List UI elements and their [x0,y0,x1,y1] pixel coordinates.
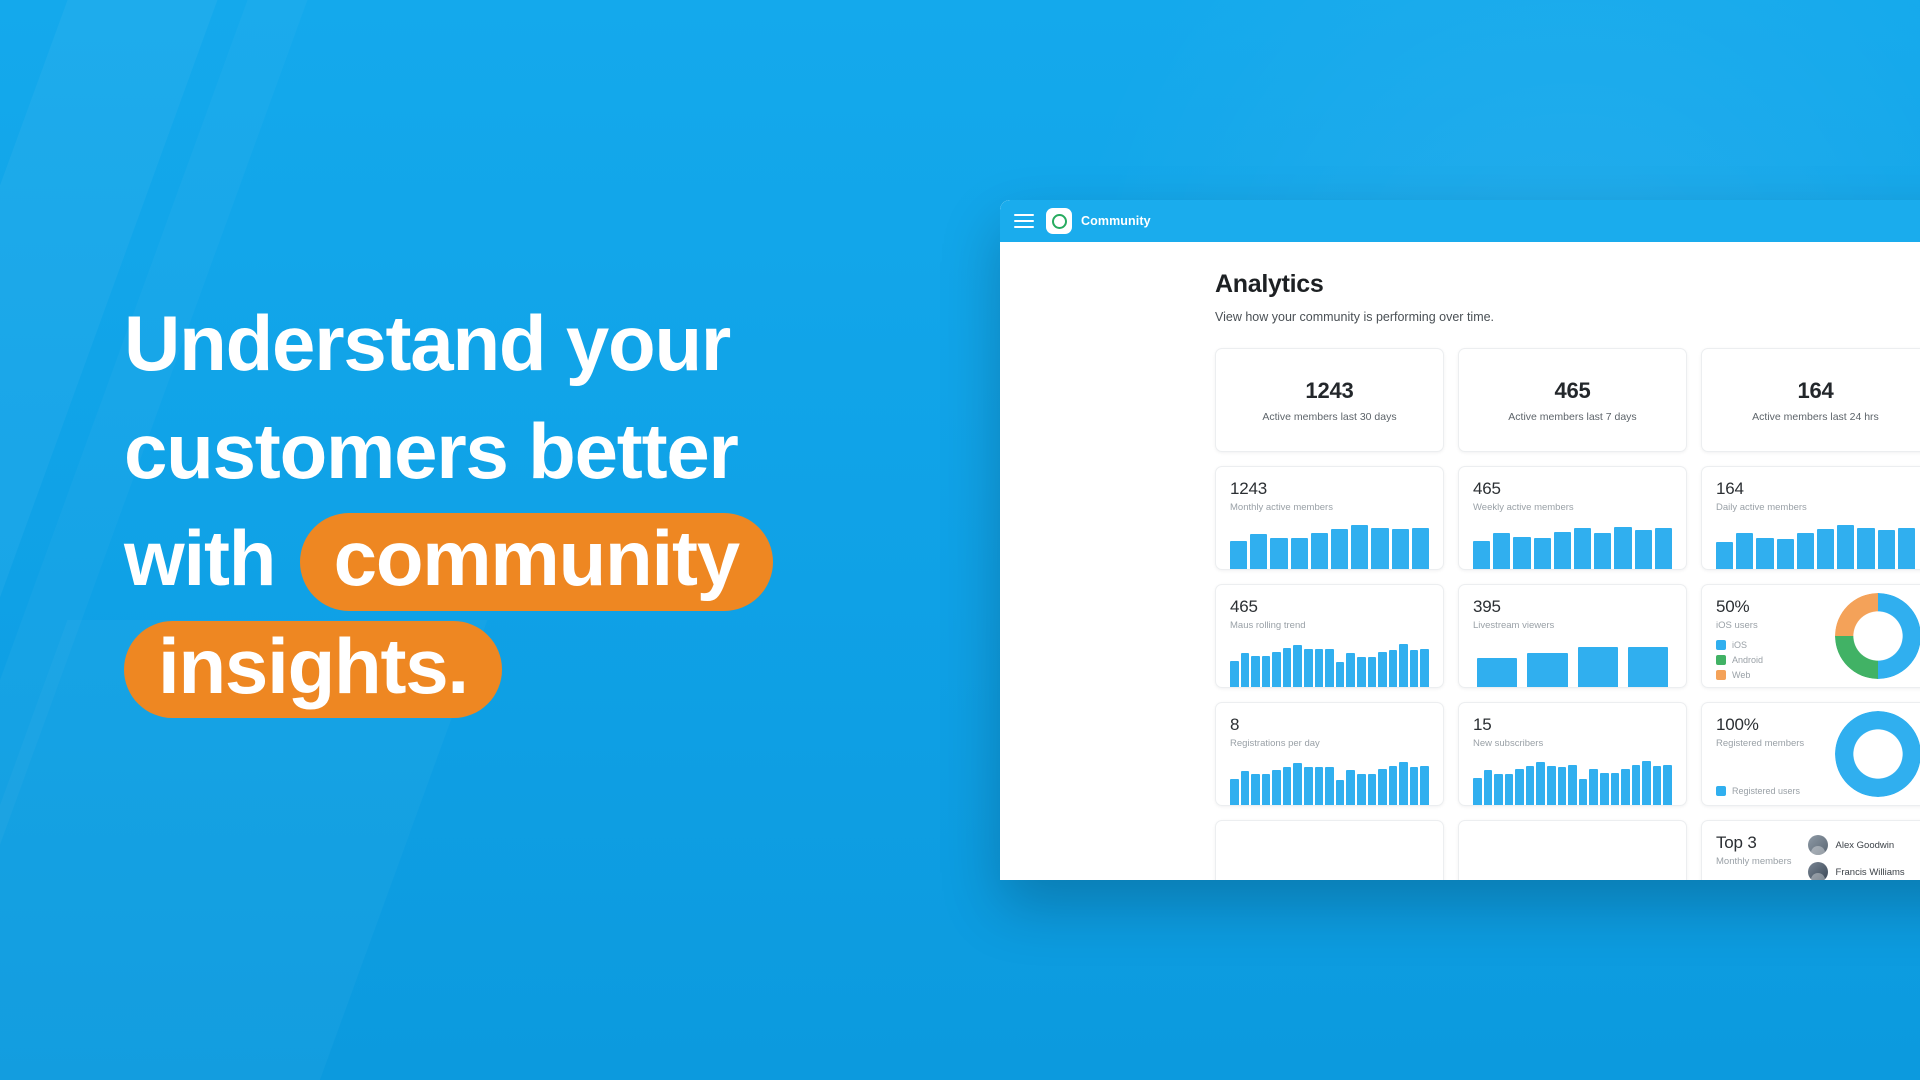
legend-label: Web [1732,670,1750,680]
bar [1371,528,1388,569]
bar [1410,767,1419,805]
legend-row: iOS [1716,640,1819,650]
bar [1272,652,1281,687]
headline-line-4: insights. [124,613,944,721]
bar [1513,537,1530,569]
bar [1642,761,1651,805]
list-item[interactable]: Alex Goodwin [1808,835,1915,855]
card-value: 465 [1473,479,1672,499]
headline-pill-community: community [300,513,773,611]
top-members-card[interactable]: Top 3 Monthly members Alex Goodwin Franc… [1701,820,1920,880]
bar [1663,765,1672,805]
chart-card-weekly-active-members[interactable]: 465 Weekly active members [1458,466,1687,570]
bar-chart [1477,641,1668,687]
bar [1527,653,1567,687]
bar [1817,529,1834,569]
bar [1230,779,1239,805]
bar [1534,538,1551,569]
app-main-content: Analytics View how your community is per… [1215,242,1920,880]
bar [1837,525,1854,569]
bar [1547,766,1556,805]
bar-chart [1473,521,1672,569]
bar [1389,766,1398,805]
bar [1283,767,1292,805]
chart-card-daily-active-members[interactable]: 164 Daily active members [1701,466,1920,570]
hero-headline: Understand your customers better with co… [124,290,944,721]
kpi-card-bottom[interactable]: 42 [1458,820,1687,880]
bar [1315,649,1324,687]
bar [1568,765,1577,805]
bar [1716,542,1733,569]
donut-chart [1835,711,1920,797]
bar [1291,538,1308,569]
bar [1251,774,1260,805]
avatar [1808,862,1828,880]
bar [1797,533,1814,569]
bar [1635,530,1652,569]
bar [1505,774,1514,805]
brand-name: Community [1081,214,1151,228]
legend-swatch [1716,670,1726,680]
bar [1554,532,1571,569]
headline-line-2: customers better [124,398,944,506]
member-name: Alex Goodwin [1836,840,1895,851]
bar-chart [1230,757,1429,805]
legend-label: Android [1732,655,1763,665]
card-value: 15 [1473,715,1672,735]
card-value: 164 [1716,479,1915,499]
card-label: Livestream viewers [1473,620,1672,631]
bar [1389,650,1398,687]
donut-chart [1835,593,1920,679]
donut-card-ios-users[interactable]: 50% iOS users iOSAndroidWeb [1701,584,1920,688]
card-label: Monthly active members [1230,502,1429,513]
bar [1283,648,1292,687]
app-body: Analytics View how your community is per… [1000,242,1920,880]
bar [1230,661,1239,687]
bar [1857,528,1874,569]
chart-card-new-subscribers[interactable]: 15 New subscribers [1458,702,1687,806]
legend-swatch [1716,655,1726,665]
legend-swatch [1716,786,1726,796]
bar [1293,645,1302,687]
legend-swatch [1716,640,1726,650]
bar-chart [1473,757,1672,805]
kpi-label: Active members last 30 days [1262,411,1396,423]
bar [1484,770,1493,805]
donut-card-registered-members[interactable]: 100% Registered members Registered users [1701,702,1920,806]
bar [1336,780,1345,805]
kpi-card[interactable]: 164 Active members last 24 hrs [1701,348,1920,452]
headline-line-3: with community [124,505,944,613]
card-value: 395 [1473,597,1672,617]
donut-legend: Registered users [1716,786,1800,796]
chart-card-monthly-active-members[interactable]: 1243 Monthly active members [1215,466,1444,570]
kpi-value: 1243 [1305,378,1353,404]
chart-card-livestream-viewers[interactable]: 395 Livestream viewers [1458,584,1687,688]
bar [1574,528,1591,569]
card-value: Top 3 [1716,833,1808,853]
app-sidebar [1000,242,1215,880]
card-label: Monthly members [1716,856,1808,867]
bar [1756,538,1773,569]
bar [1898,528,1915,569]
card-label: iOS users [1716,620,1819,631]
card-label: Daily active members [1716,502,1915,513]
bar [1250,534,1267,569]
card-label: Registered members [1716,738,1819,749]
card-value: 8 [1230,715,1429,735]
bar [1241,653,1250,687]
headline-line-3-prefix: with [124,514,275,602]
bar [1368,774,1377,805]
card-value: 100% [1716,715,1819,735]
bar [1473,541,1490,569]
bar [1578,647,1618,687]
bar [1368,657,1377,687]
legend-row: Web [1716,670,1819,680]
card-label: Registrations per day [1230,738,1429,749]
brand[interactable]: Community [1046,208,1151,234]
bar [1493,533,1510,569]
bar [1412,528,1429,569]
kpi-card[interactable]: 1243 Active members last 30 days [1215,348,1444,452]
bar [1494,774,1503,805]
member-name: Francis Williams [1836,867,1905,878]
bar [1621,769,1630,805]
app-window-mockup: Community Analytics View how your commun… [1000,200,1920,880]
kpi-card-bottom[interactable]: 1264 [1215,820,1444,880]
bar [1331,529,1348,569]
bar [1378,769,1387,805]
bar [1878,530,1895,569]
app-topbar: Community [1000,200,1920,242]
bar [1357,774,1366,805]
bar [1614,527,1631,569]
bar [1558,767,1567,805]
kpi-value: 465 [1554,378,1590,404]
bar [1270,538,1287,569]
bar [1526,766,1535,805]
bar [1589,769,1598,805]
bar [1655,528,1672,569]
bar [1230,541,1247,569]
bar [1392,529,1409,569]
headline-pill-insights: insights. [124,621,502,719]
bar [1399,644,1408,687]
legend-label: Registered users [1732,786,1800,796]
card-label: New subscribers [1473,738,1672,749]
bar [1632,765,1641,805]
bar [1357,657,1366,687]
kpi-card[interactable]: 465 Active members last 7 days [1458,348,1687,452]
bar-chart [1716,521,1915,569]
list-item[interactable]: Francis Williams [1808,862,1915,880]
hamburger-menu-icon[interactable] [1014,214,1034,228]
bar [1311,533,1328,569]
bar [1293,763,1302,805]
bar [1628,647,1668,687]
bar [1304,649,1313,687]
bar [1611,773,1620,805]
card-value: 50% [1716,597,1819,617]
bar [1378,652,1387,687]
bar [1399,762,1408,805]
community-ring-logo-icon [1046,208,1072,234]
page-subtitle: View how your community is performing ov… [1215,310,1920,324]
bar [1536,762,1545,805]
bar [1336,662,1345,687]
top-members-list: Alex Goodwin Francis Williams [1808,833,1915,880]
kpi-label: Active members last 24 hrs [1752,411,1879,423]
page-title: Analytics [1215,270,1920,299]
bar [1304,767,1313,805]
bar [1272,770,1281,805]
bar [1325,649,1334,687]
bar [1579,779,1588,805]
bar-chart [1230,521,1429,569]
bar [1777,539,1794,569]
legend-label: iOS [1732,640,1747,650]
avatar [1808,835,1828,855]
bar [1325,767,1334,805]
bar [1600,773,1609,805]
bar [1736,533,1753,569]
chart-card-maus-rolling-trend[interactable]: 465 Maus rolling trend [1215,584,1444,688]
bar [1653,766,1662,805]
bar [1473,778,1482,805]
card-value: 1243 [1230,479,1429,499]
bar-chart [1230,639,1429,687]
legend-row: Android [1716,655,1819,665]
bar [1346,770,1355,805]
bar [1241,771,1250,805]
bar [1420,649,1429,687]
headline-line-1: Understand your [124,290,944,398]
bar [1351,525,1368,569]
bar [1410,650,1419,687]
card-value: 465 [1230,597,1429,617]
bar [1251,656,1260,687]
card-label: Maus rolling trend [1230,620,1429,631]
kpi-label: Active members last 7 days [1508,411,1636,423]
kpi-value: 164 [1797,378,1833,404]
bar [1594,533,1611,569]
bar [1262,774,1271,805]
bar [1315,767,1324,805]
bar [1515,769,1524,805]
donut-legend: iOSAndroidWeb [1716,640,1819,680]
bar [1420,766,1429,805]
card-label: Weekly active members [1473,502,1672,513]
bar [1477,658,1517,687]
legend-row: Registered users [1716,786,1800,796]
analytics-grid: 1243 Active members last 30 days 465 Act… [1215,348,1920,880]
bar [1346,653,1355,687]
bar [1262,656,1271,687]
chart-card-registrations-per-day[interactable]: 8 Registrations per day [1215,702,1444,806]
